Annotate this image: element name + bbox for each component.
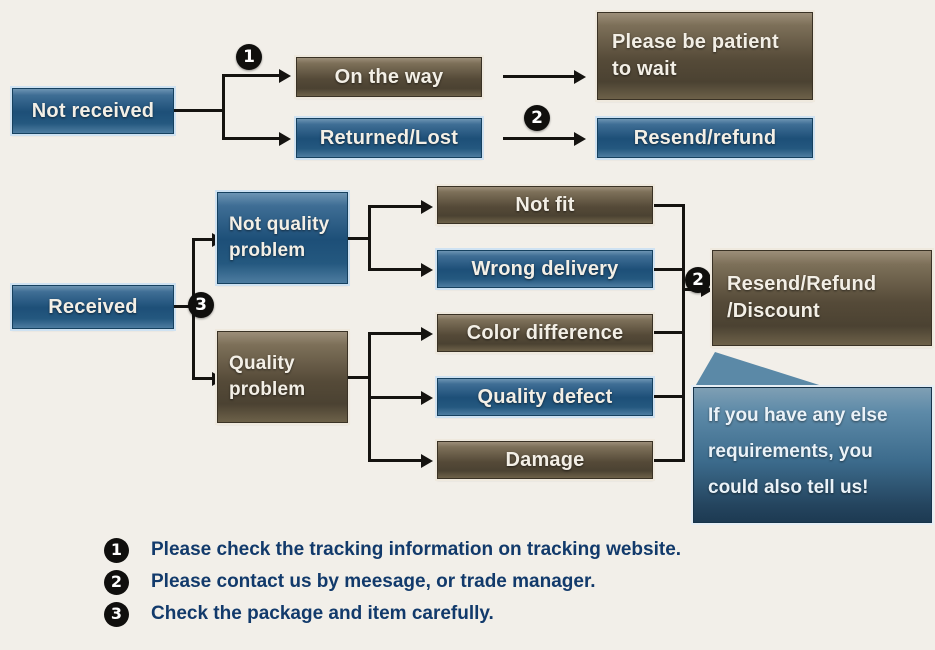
arrow-to-not-fit bbox=[421, 200, 433, 214]
connector-quality-stem bbox=[348, 376, 370, 379]
node-not-received-label: Not received bbox=[32, 98, 154, 125]
connector-notquality-to-notfit bbox=[368, 205, 422, 208]
connector-quality-to-colordifference bbox=[368, 332, 422, 335]
node-resend-refund[interactable]: Resend/refund bbox=[597, 118, 813, 158]
node-wrong-delivery[interactable]: Wrong delivery bbox=[437, 250, 653, 288]
badge-three-mid-number: 3 bbox=[195, 297, 207, 314]
badge-two-top-number: 2 bbox=[531, 110, 543, 127]
node-color-difference[interactable]: Color difference bbox=[437, 314, 653, 352]
node-received[interactable]: Received bbox=[12, 285, 174, 329]
node-returned-lost[interactable]: Returned/Lost bbox=[296, 118, 482, 158]
legend-badge-two: 2 bbox=[104, 570, 129, 595]
node-quality-defect[interactable]: Quality defect bbox=[437, 378, 653, 416]
legend-badge-two-number: 2 bbox=[111, 574, 122, 590]
arrow-to-on-the-way bbox=[279, 69, 291, 83]
callout-tail bbox=[693, 352, 835, 390]
callout-line1: If you have any else bbox=[708, 398, 917, 434]
badge-one-top: 1 bbox=[236, 44, 262, 70]
connector-notquality-to-wrongdelivery bbox=[368, 268, 422, 271]
connector-notreceived-stem bbox=[174, 109, 224, 112]
node-wrong-delivery-label: Wrong delivery bbox=[472, 256, 619, 283]
badge-two-right: 2 bbox=[685, 267, 711, 293]
legend-badge-one: 1 bbox=[104, 538, 129, 563]
connector-quality-to-damage bbox=[368, 459, 422, 462]
node-not-quality-problem-line2: problem bbox=[229, 238, 336, 264]
node-received-label: Received bbox=[48, 294, 137, 321]
connector-merge-bus-vertical bbox=[682, 204, 685, 462]
connector-notfit-merge bbox=[654, 204, 684, 207]
node-not-quality-problem[interactable]: Not quality problem bbox=[217, 192, 348, 284]
connector-notquality-fan-vertical bbox=[368, 205, 371, 271]
node-not-fit-label: Not fit bbox=[515, 192, 574, 219]
legend-text-two: Please contact us by meesage, or trade m… bbox=[151, 571, 596, 593]
callout-extra-requirements: If you have any else requirements, you c… bbox=[693, 387, 932, 523]
connector-wrongdelivery-merge bbox=[654, 268, 684, 271]
node-quality-problem-line2: problem bbox=[229, 377, 336, 403]
badge-three-mid: 3 bbox=[188, 292, 214, 318]
connector-received-to-quality bbox=[192, 377, 214, 380]
node-please-be-patient-line1: Please be patient bbox=[612, 29, 798, 56]
badge-two-right-number: 2 bbox=[692, 272, 704, 289]
node-please-be-patient[interactable]: Please be patient to wait bbox=[597, 12, 813, 100]
node-quality-problem[interactable]: Quality problem bbox=[217, 331, 348, 423]
node-on-the-way[interactable]: On the way bbox=[296, 57, 482, 97]
legend-badge-three: 3 bbox=[104, 602, 129, 627]
legend-badge-one-number: 1 bbox=[111, 542, 122, 558]
connector-ontheway-to-patient bbox=[503, 75, 575, 78]
legend-text-three: Check the package and item carefully. bbox=[151, 603, 494, 625]
connector-colordifference-merge bbox=[654, 331, 684, 334]
node-color-difference-label: Color difference bbox=[467, 320, 624, 347]
arrow-to-quality-defect bbox=[421, 391, 433, 405]
connector-returned-to-resend bbox=[503, 137, 575, 140]
node-please-be-patient-line2: to wait bbox=[612, 56, 798, 83]
arrow-to-returned-lost bbox=[279, 132, 291, 146]
node-not-received[interactable]: Not received bbox=[12, 88, 174, 134]
node-quality-problem-line1: Quality bbox=[229, 351, 336, 377]
node-not-quality-problem-line1: Not quality bbox=[229, 212, 336, 238]
legend: 1 Please check the tracking information … bbox=[104, 534, 884, 630]
connector-damage-merge bbox=[654, 459, 684, 462]
flowchart-canvas: Not received 1 On the way Returned/Lost … bbox=[0, 0, 935, 650]
connector-notquality-stem bbox=[348, 237, 370, 240]
node-resend-refund-discount[interactable]: Resend/Refund /Discount bbox=[712, 250, 932, 346]
connector-quality-to-qualitydefect bbox=[368, 396, 422, 399]
legend-item: 2 Please contact us by meesage, or trade… bbox=[104, 566, 884, 598]
node-returned-lost-label: Returned/Lost bbox=[320, 125, 458, 152]
node-damage[interactable]: Damage bbox=[437, 441, 653, 479]
legend-item: 1 Please check the tracking information … bbox=[104, 534, 884, 566]
connector-notreceived-fork-vertical bbox=[222, 74, 225, 140]
badge-two-top: 2 bbox=[524, 105, 550, 131]
arrow-to-wrong-delivery bbox=[421, 263, 433, 277]
legend-item: 3 Check the package and item carefully. bbox=[104, 598, 884, 630]
arrow-to-damage bbox=[421, 454, 433, 468]
legend-text-one: Please check the tracking information on… bbox=[151, 539, 681, 561]
node-resend-refund-discount-line1: Resend/Refund bbox=[727, 271, 917, 298]
node-resend-refund-label: Resend/refund bbox=[634, 125, 777, 152]
node-not-fit[interactable]: Not fit bbox=[437, 186, 653, 224]
connector-received-to-notquality bbox=[192, 238, 214, 241]
node-quality-defect-label: Quality defect bbox=[477, 384, 612, 411]
connector-notreceived-to-returned bbox=[222, 137, 280, 140]
node-damage-label: Damage bbox=[505, 447, 584, 474]
badge-one-top-number: 1 bbox=[243, 49, 255, 66]
arrow-to-resend-refund bbox=[574, 132, 586, 146]
connector-notreceived-to-ontheway bbox=[222, 74, 280, 77]
node-on-the-way-label: On the way bbox=[335, 64, 444, 91]
callout-line2: requirements, you bbox=[708, 434, 917, 470]
callout-line3: could also tell us! bbox=[708, 470, 917, 506]
connector-qualitydefect-merge bbox=[654, 395, 684, 398]
legend-badge-three-number: 3 bbox=[111, 606, 122, 622]
node-resend-refund-discount-line2: /Discount bbox=[727, 298, 917, 325]
arrow-to-color-difference bbox=[421, 327, 433, 341]
arrow-to-please-be-patient bbox=[574, 70, 586, 84]
